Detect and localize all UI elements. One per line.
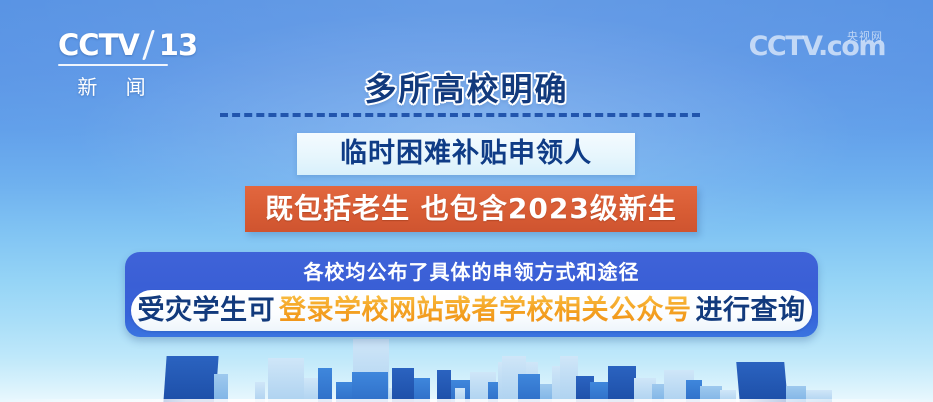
skyline-building [437, 370, 451, 402]
skyline-building [498, 362, 538, 402]
skyline-building [336, 382, 352, 402]
skyline-building [560, 356, 578, 402]
headline-title: 多所高校明确 [0, 64, 933, 110]
skyline-building [214, 374, 228, 402]
skyline-building [686, 380, 702, 402]
skyline-building [352, 372, 388, 402]
pill-text-highlight: 登录学校网站或者学校相关公众号 [275, 290, 696, 331]
skyline-building [590, 382, 612, 402]
info-panel-pill: 受灾学生可 登录学校网站或者学校相关公众号 进行查询 [131, 290, 812, 331]
skyline-building [552, 366, 576, 402]
skyline-building [664, 370, 694, 402]
cctv-channel-number: 13 [159, 30, 197, 60]
skyline-building [163, 356, 218, 402]
skyline-building [806, 390, 832, 402]
subtitle-band-orange-text: 既包括老生 也包含2023级新生 [245, 186, 697, 232]
skyline-building [378, 388, 406, 402]
skyline-building [576, 376, 594, 402]
skyline-building [736, 362, 787, 402]
skyline-building [786, 386, 806, 402]
skyline-building [470, 372, 496, 402]
subtitle-band-white-text: 临时困难补贴申领人 [297, 133, 635, 175]
skyline-building [304, 378, 322, 402]
dashed-divider [220, 113, 700, 117]
skyline-building [268, 358, 304, 402]
info-panel-blue: 各校均公布了具体的申领方式和途径 受灾学生可 登录学校网站或者学校相关公众号 进… [125, 252, 818, 337]
skyline-building [488, 382, 504, 402]
skyline-building [318, 368, 332, 402]
cctv-wordmark: CCTV [58, 30, 139, 60]
skyline-building [392, 368, 414, 402]
skyline-building [353, 339, 389, 402]
skyline-building [634, 378, 656, 402]
skyline-building [720, 390, 736, 402]
pill-text-lead: 受灾学生可 [138, 290, 276, 331]
cctv-logo-row: CCTV 13 [58, 28, 208, 62]
skyline-building [364, 386, 376, 402]
city-skyline-graphic [0, 330, 933, 402]
cctv-logo-slash [139, 28, 159, 62]
skyline-building [255, 382, 265, 402]
skyline-building [540, 384, 556, 402]
pill-text-tail: 进行查询 [696, 290, 806, 331]
skyline-building [608, 366, 636, 402]
watermark-cn-text: 央视网 [847, 28, 883, 44]
skyline-building [502, 356, 526, 402]
broadcast-graphic-frame: CCTV 13 新 闻 CCTV.com 央视网 多所高校明确 临时困难补贴申领… [0, 0, 933, 402]
subtitle-band-orange: 既包括老生 也包含2023级新生 [245, 186, 697, 232]
info-panel-heading: 各校均公布了具体的申领方式和途径 [125, 252, 818, 284]
skyline-building [518, 374, 540, 402]
skyline-building [455, 388, 465, 402]
skyline-building [652, 384, 670, 402]
skyline-building [451, 380, 477, 402]
skyline-building [352, 376, 364, 402]
subtitle-band-white: 临时困难补贴申领人 [297, 133, 635, 175]
skyline-building [414, 378, 430, 402]
skyline-building [700, 386, 722, 402]
